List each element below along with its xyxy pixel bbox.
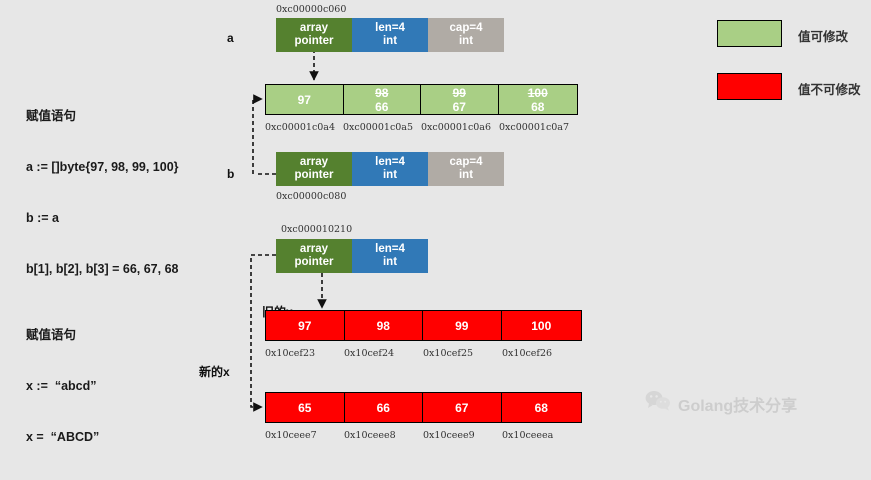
byte-cell-1: 98 66 (344, 85, 422, 114)
string-new-x-label: 新的x (199, 363, 230, 380)
byte-cell-2-address: 0xc00001c0a6 (421, 122, 499, 133)
diagram-canvas: 值可修改 值不可修改 赋值语句 a := []byte{97, 98, 99, … (0, 0, 871, 442)
slice-a-array-pointer-line2: pointer (295, 35, 334, 48)
byte-cell-2-value: 67 (453, 100, 466, 114)
string-x-array-pointer-cell: array pointer (276, 239, 352, 273)
slice-backing-array: 97 98 66 99 67 100 68 (265, 84, 578, 115)
new-byte-cell-1-address: 0x10ceee8 (344, 430, 423, 441)
old-byte-cell-2-value: 99 (455, 319, 468, 333)
slice-b-cap-line2: int (459, 169, 473, 182)
slice-header-b: array pointer len=4 int cap=4 int (276, 152, 504, 186)
byte-cell-2-old-value: 99 (453, 86, 466, 100)
legend-swatch-immutable (717, 73, 782, 100)
slice-code-heading: 赋值语句 (26, 108, 179, 125)
string-code-line-2: x = “ABCD” (26, 429, 99, 446)
slice-b-len-line1: len=4 (375, 156, 405, 169)
byte-cell-1-address: 0xc00001c0a5 (343, 122, 421, 133)
string-x-len-cell: len=4 int (352, 239, 428, 273)
slice-a-array-pointer-cell: array pointer (276, 18, 352, 52)
byte-cell-3-old-value: 100 (528, 86, 548, 100)
new-byte-cell-2-value: 67 (455, 401, 468, 415)
string-old-array-addresses: 0x10cef23 0x10cef24 0x10cef25 0x10cef26 (265, 348, 585, 359)
slice-a-array-pointer-line1: array (300, 22, 328, 35)
new-byte-cell-3-value: 68 (535, 401, 548, 415)
old-byte-cell-0-value: 97 (298, 319, 311, 333)
string-code-line-1: x := “abcd” (26, 378, 99, 395)
byte-cell-3-value: 68 (531, 100, 544, 114)
new-byte-cell-3: 68 (502, 393, 581, 422)
byte-cell-0-value: 97 (298, 93, 311, 107)
slice-a-address: 0xc00000c060 (276, 4, 346, 15)
slice-a-len-line1: len=4 (375, 22, 405, 35)
new-byte-cell-0-value: 65 (298, 401, 311, 415)
wechat-icon (645, 390, 671, 417)
new-byte-cell-3-address: 0x10ceeea (502, 430, 582, 441)
slice-code-line-3: b[1], b[2], b[3] = 66, 67, 68 (26, 261, 179, 278)
legend-label-mutable: 值可修改 (798, 26, 848, 45)
slice-a-len-cell: len=4 int (352, 18, 428, 52)
old-byte-cell-3: 100 (502, 311, 581, 340)
string-header-x: array pointer len=4 int (276, 239, 428, 273)
new-byte-cell-0: 65 (266, 393, 345, 422)
byte-cell-3-address: 0xc00001c0a7 (499, 122, 578, 133)
watermark: Golang技术分享 (645, 390, 797, 417)
watermark-text: Golang技术分享 (678, 392, 797, 416)
old-byte-cell-1-address: 0x10cef24 (344, 348, 423, 359)
slice-code-line-2: b := a (26, 210, 179, 227)
byte-cell-3: 100 68 (499, 85, 577, 114)
slice-b-address: 0xc00000c080 (276, 191, 346, 202)
new-byte-cell-0-address: 0x10ceee7 (265, 430, 344, 441)
old-byte-cell-0-address: 0x10cef23 (265, 348, 344, 359)
old-byte-cell-2-address: 0x10cef25 (423, 348, 502, 359)
slice-code-line-1: a := []byte{97, 98, 99, 100} (26, 159, 179, 176)
slice-b-var-label: b (227, 167, 234, 181)
slice-b-len-line2: int (383, 169, 397, 182)
old-byte-cell-3-address: 0x10cef26 (502, 348, 582, 359)
slice-b-cap-line1: cap=4 (450, 156, 483, 169)
string-code-heading: 赋值语句 (26, 327, 99, 344)
string-x-address: 0xc000010210 (281, 224, 352, 235)
byte-cell-2: 99 67 (421, 85, 499, 114)
slice-backing-array-addresses: 0xc00001c0a4 0xc00001c0a5 0xc00001c0a6 0… (265, 122, 585, 133)
string-code-block: 赋值语句 x := “abcd” x = “ABCD” (26, 293, 99, 480)
old-byte-cell-3-value: 100 (531, 319, 551, 333)
new-byte-cell-2: 67 (423, 393, 502, 422)
string-old-array: 97 98 99 100 (265, 310, 582, 341)
string-new-array-addresses: 0x10ceee7 0x10ceee8 0x10ceee9 0x10ceeea (265, 430, 585, 441)
old-byte-cell-0: 97 (266, 311, 345, 340)
old-byte-cell-1-value: 98 (377, 319, 390, 333)
byte-cell-0-address: 0xc00001c0a4 (265, 122, 343, 133)
slice-a-cap-cell: cap=4 int (428, 18, 504, 52)
new-byte-cell-1-value: 66 (377, 401, 390, 415)
string-x-array-pointer-line1: array (300, 243, 328, 256)
string-x-len-line1: len=4 (375, 243, 405, 256)
slice-b-len-cell: len=4 int (352, 152, 428, 186)
new-byte-cell-1: 66 (345, 393, 424, 422)
legend-label-immutable: 值不可修改 (798, 79, 861, 98)
new-byte-cell-2-address: 0x10ceee9 (423, 430, 502, 441)
string-new-array: 65 66 67 68 (265, 392, 582, 423)
byte-cell-1-value: 66 (375, 100, 388, 114)
slice-a-cap-line1: cap=4 (450, 22, 483, 35)
string-x-len-line2: int (383, 256, 397, 269)
byte-cell-1-old-value: 98 (375, 86, 388, 100)
string-x-array-pointer-line2: pointer (295, 256, 334, 269)
slice-b-array-pointer-line2: pointer (295, 169, 334, 182)
old-byte-cell-1: 98 (345, 311, 424, 340)
slice-b-cap-cell: cap=4 int (428, 152, 504, 186)
slice-a-len-line2: int (383, 35, 397, 48)
slice-a-var-label: a (227, 31, 234, 45)
slice-b-array-pointer-cell: array pointer (276, 152, 352, 186)
slice-header-a: array pointer len=4 int cap=4 int (276, 18, 504, 52)
slice-b-array-pointer-line1: array (300, 156, 328, 169)
legend-swatch-mutable (717, 20, 782, 47)
slice-a-cap-line2: int (459, 35, 473, 48)
slice-code-block: 赋值语句 a := []byte{97, 98, 99, 100} b := a… (26, 74, 179, 312)
byte-cell-0: 97 (266, 85, 344, 114)
old-byte-cell-2: 99 (423, 311, 502, 340)
